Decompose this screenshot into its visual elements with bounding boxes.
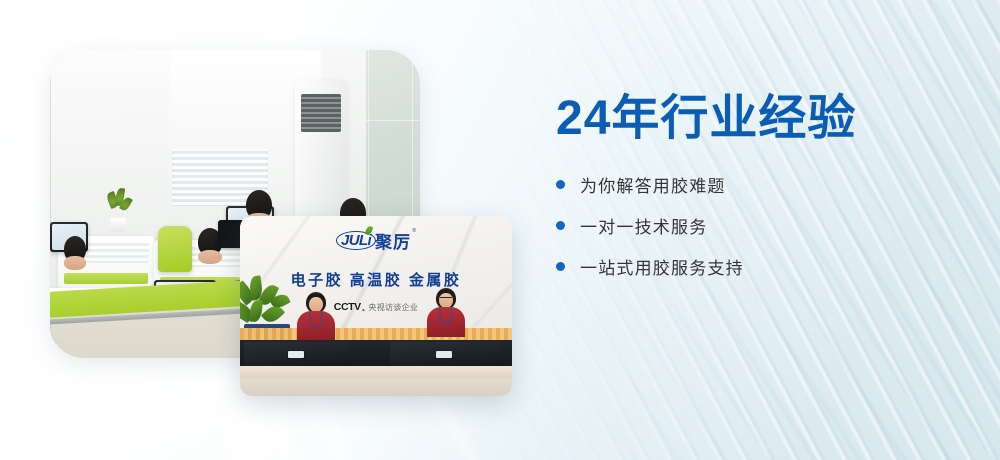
list-item: 一对一技术服务 [556, 213, 956, 238]
reception-floor [240, 378, 512, 396]
receptionist [288, 292, 344, 344]
bullet-dot-icon [556, 262, 565, 271]
lanyard [310, 312, 323, 328]
list-item-label: 一站式用胶服务支持 [580, 254, 744, 279]
office-wall-panel [50, 50, 168, 246]
desk-nameplate [288, 351, 304, 358]
trademark-symbol: ® [412, 228, 417, 234]
cctv-label: 央视访谈企业 [368, 302, 418, 313]
logo-brand-cn: 聚厉® [375, 228, 411, 253]
cctv-dot: . [362, 300, 366, 314]
list-item: 为你解答用胶难题 [556, 172, 956, 197]
bullet-dot-icon [556, 221, 565, 230]
office-employee [64, 236, 86, 262]
list-item-label: 为你解答用胶难题 [580, 172, 726, 197]
receptionist-head [436, 288, 456, 309]
list-item: 一站式用胶服务支持 [556, 254, 956, 279]
office-chair [158, 226, 192, 272]
feature-list: 为你解答用胶难题 一对一技术服务 一站式用胶服务支持 [556, 172, 956, 279]
company-logo: JULi 聚厉® [341, 228, 411, 253]
logo-wordmark: JULi [341, 232, 371, 249]
list-item-label: 一对一技术服务 [580, 213, 707, 238]
reception-photo: JULi 聚厉® 电子胶 高温胶 金属胶 CCTV . 央视访谈企业 [240, 216, 512, 396]
page-title: 24年行业经验 [556, 92, 956, 146]
receptionist [418, 288, 474, 344]
air-conditioner-grille [301, 94, 341, 132]
lanyard [440, 308, 453, 324]
receptionist-head [306, 292, 326, 313]
bullet-dot-icon [556, 180, 565, 189]
desk-nameplate [436, 351, 452, 358]
glasses-icon [440, 297, 452, 301]
office-plant-pot [110, 218, 126, 232]
copy-block: 24年行业经验 为你解答用胶难题 一对一技术服务 一站式用胶服务支持 [556, 92, 956, 295]
banner-root: JULi 聚厉® 电子胶 高温胶 金属胶 CCTV . 央视访谈企业 [0, 0, 1000, 460]
